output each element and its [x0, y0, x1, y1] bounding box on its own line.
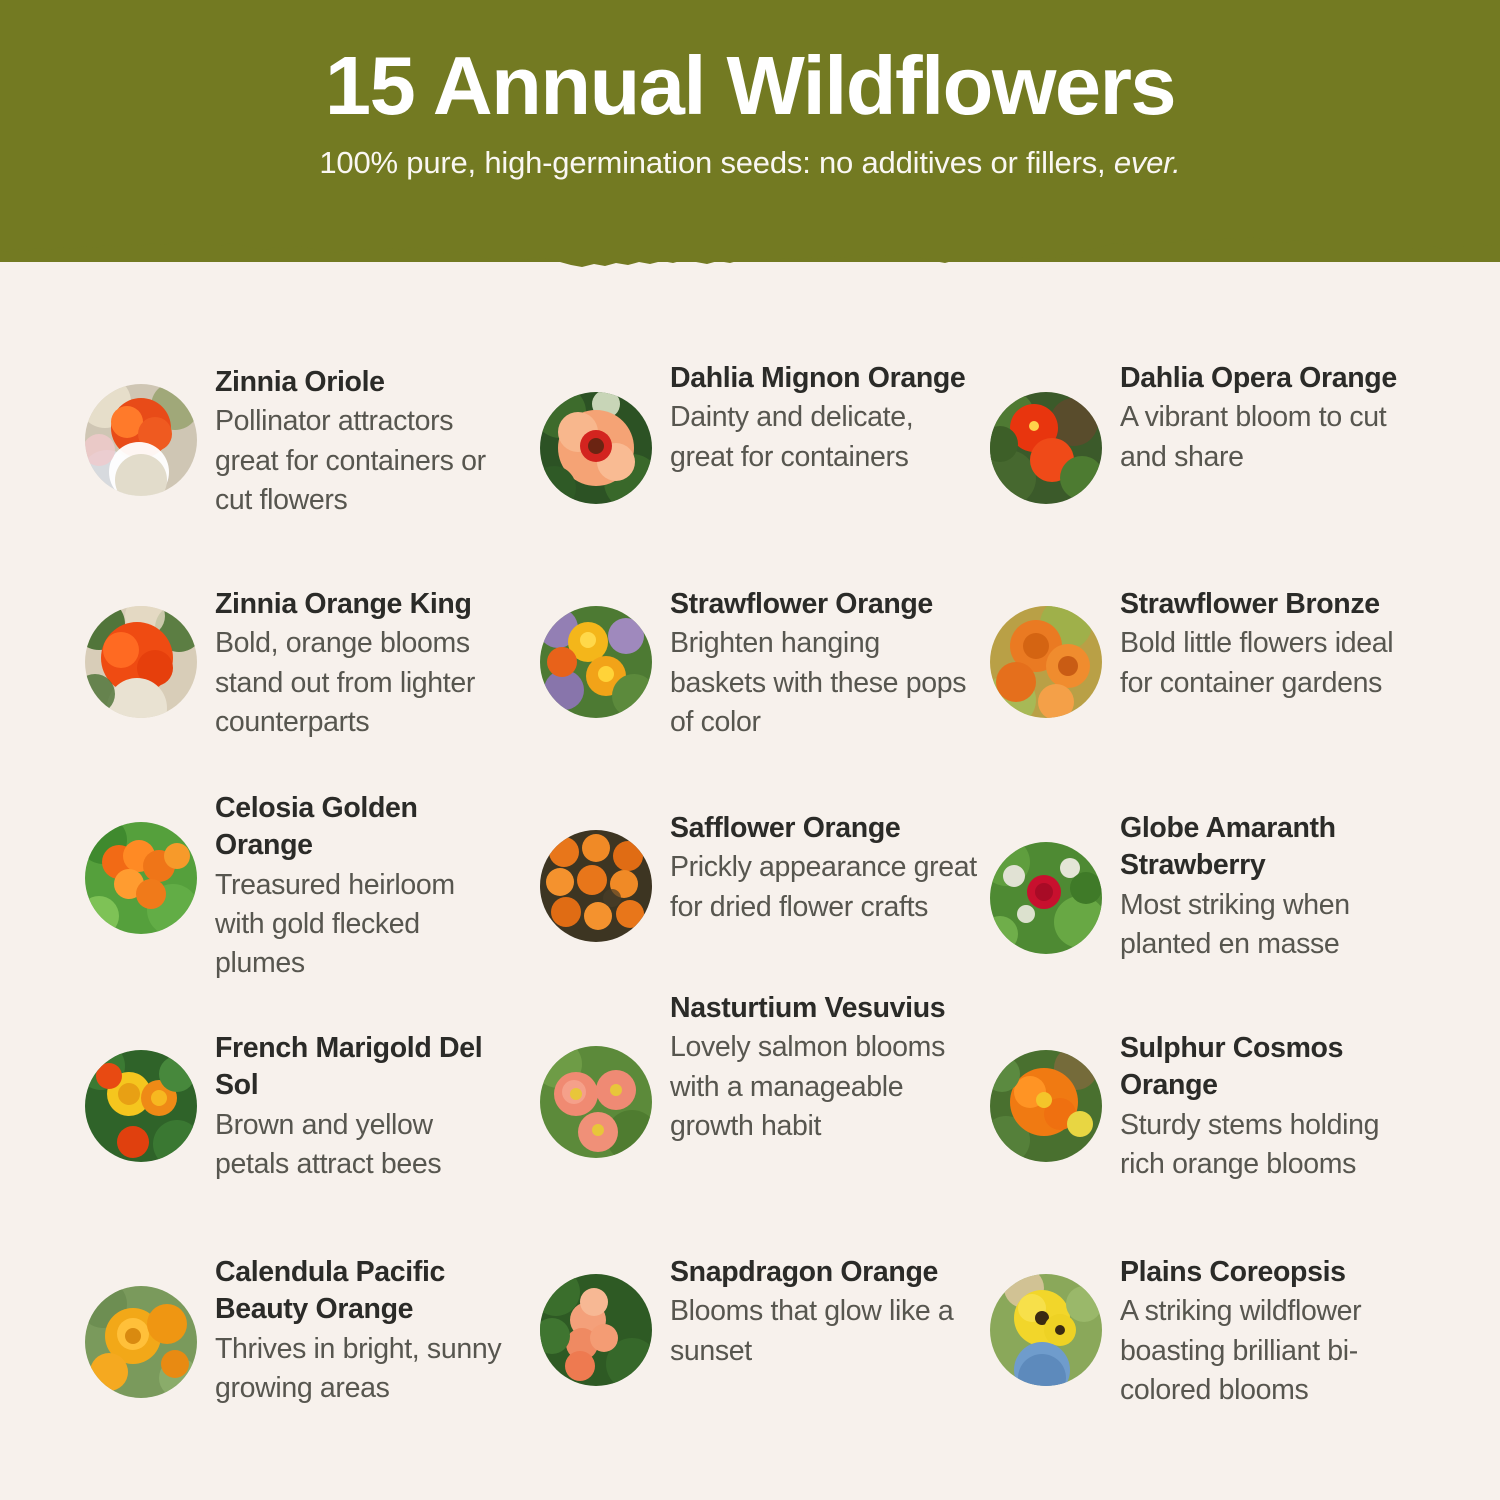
variety-name: Nasturtium Vesuvius: [670, 990, 980, 1027]
snapdragon-orange-photo: [540, 1274, 652, 1386]
torn-paper-edge-divider: [0, 232, 1500, 282]
variety-name: Zinnia Orange King: [215, 586, 505, 623]
safflower-orange-photo: [540, 830, 652, 942]
variety-description: A striking wildflower boasting brilliant…: [1120, 1292, 1430, 1410]
variety-description: Bold little flowers ideal for container …: [1120, 624, 1430, 703]
variety-name: Celosia Golden Orange: [215, 790, 505, 865]
variety-description: Prickly appearance great for dried flowe…: [670, 848, 980, 927]
variety-card[interactable]: Zinnia Orange KingBold, orange blooms st…: [85, 584, 505, 742]
variety-description: Treasured heirloom with gold flecked plu…: [215, 866, 505, 984]
variety-card[interactable]: Globe Amaranth StrawberryMost striking w…: [990, 808, 1430, 964]
variety-name: Dahlia Mignon Orange: [670, 360, 980, 397]
variety-card-text: Sulphur Cosmos OrangeSturdy stems holdin…: [1120, 1028, 1430, 1184]
celosia-golden-orange-photo: [85, 822, 197, 934]
zinnia-orange-king-photo: [85, 606, 197, 718]
page-header: 15 Annual Wildflowers 100% pure, high-ge…: [0, 0, 1500, 262]
french-marigold-del-sol-photo: [85, 1050, 197, 1162]
variety-description: A vibrant bloom to cut and share: [1120, 398, 1430, 477]
variety-name: Zinnia Oriole: [215, 364, 505, 401]
plains-coreopsis-photo: [990, 1274, 1102, 1386]
variety-description: Most striking when planted en masse: [1120, 886, 1430, 965]
variety-card[interactable]: Zinnia OriolePollinator attractors great…: [85, 362, 505, 520]
wildflower-variety-grid: Zinnia OriolePollinator attractors great…: [0, 300, 1500, 1500]
variety-card[interactable]: Celosia Golden OrangeTreasured heirloom …: [85, 788, 505, 984]
variety-card[interactable]: Sulphur Cosmos OrangeSturdy stems holdin…: [990, 1028, 1430, 1184]
variety-card-text: French Marigold Del SolBrown and yellow …: [215, 1028, 505, 1184]
variety-card-text: Zinnia OriolePollinator attractors great…: [215, 362, 505, 520]
variety-name: Dahlia Opera Orange: [1120, 360, 1430, 397]
variety-card-text: Dahlia Mignon OrangeDainty and delicate,…: [670, 358, 980, 477]
zinnia-oriole-photo: [85, 384, 197, 496]
variety-description: Sturdy stems holding rich orange blooms: [1120, 1106, 1430, 1185]
variety-name: Strawflower Orange: [670, 586, 980, 623]
page-subtitle: 100% pure, high-germination seeds: no ad…: [0, 145, 1500, 181]
variety-card[interactable]: Plains CoreopsisA striking wildflower bo…: [990, 1252, 1430, 1410]
dahlia-opera-orange-photo: [990, 392, 1102, 504]
variety-card[interactable]: Strawflower BronzeBold little flowers id…: [990, 584, 1430, 718]
variety-card-text: Plains CoreopsisA striking wildflower bo…: [1120, 1252, 1430, 1410]
variety-description: Brown and yellow petals attract bees: [215, 1106, 505, 1185]
subtitle-main-text: 100% pure, high-germination seeds: no ad…: [319, 145, 1113, 180]
variety-card-text: Calendula Pacific Beauty OrangeThrives i…: [215, 1252, 505, 1408]
variety-description: Lovely salmon blooms with a manageable g…: [670, 1028, 980, 1146]
dahlia-mignon-orange-photo: [540, 392, 652, 504]
variety-card[interactable]: Dahlia Opera OrangeA vibrant bloom to cu…: [990, 358, 1430, 504]
page-title: 15 Annual Wildflowers: [0, 42, 1500, 129]
sulphur-cosmos-orange-photo: [990, 1050, 1102, 1162]
variety-card-text: Snapdragon OrangeBlooms that glow like a…: [670, 1252, 980, 1371]
variety-card[interactable]: French Marigold Del SolBrown and yellow …: [85, 1028, 505, 1184]
variety-description: Thrives in bright, sunny growing areas: [215, 1330, 505, 1409]
variety-card[interactable]: Dahlia Mignon OrangeDainty and delicate,…: [540, 358, 980, 504]
variety-card[interactable]: Snapdragon OrangeBlooms that glow like a…: [540, 1252, 980, 1386]
variety-card-text: Strawflower OrangeBrighten hanging baske…: [670, 584, 980, 742]
variety-card-text: Strawflower BronzeBold little flowers id…: [1120, 584, 1430, 703]
globe-amaranth-strawberry-photo: [990, 842, 1102, 954]
variety-card-text: Nasturtium VesuviusLovely salmon blooms …: [670, 988, 980, 1146]
variety-card[interactable]: Nasturtium VesuviusLovely salmon blooms …: [540, 988, 980, 1158]
strawflower-bronze-photo: [990, 606, 1102, 718]
variety-description: Brighten hanging baskets with these pops…: [670, 624, 980, 742]
variety-description: Bold, orange blooms stand out from light…: [215, 624, 505, 742]
nasturtium-vesuvius-photo: [540, 1046, 652, 1158]
variety-name: Globe Amaranth Strawberry: [1120, 810, 1430, 885]
variety-description: Pollinator attractors great for containe…: [215, 402, 505, 520]
variety-card[interactable]: Strawflower OrangeBrighten hanging baske…: [540, 584, 980, 742]
variety-name: French Marigold Del Sol: [215, 1030, 505, 1105]
variety-card-text: Globe Amaranth StrawberryMost striking w…: [1120, 808, 1430, 964]
strawflower-orange-photo: [540, 606, 652, 718]
variety-name: Strawflower Bronze: [1120, 586, 1430, 623]
variety-card[interactable]: Safflower OrangePrickly appearance great…: [540, 808, 980, 942]
variety-card-text: Dahlia Opera OrangeA vibrant bloom to cu…: [1120, 358, 1430, 477]
variety-name: Sulphur Cosmos Orange: [1120, 1030, 1430, 1105]
variety-card-text: Celosia Golden OrangeTreasured heirloom …: [215, 788, 505, 984]
variety-name: Calendula Pacific Beauty Orange: [215, 1254, 505, 1329]
variety-description: Blooms that glow like a sunset: [670, 1292, 980, 1371]
variety-card-text: Zinnia Orange KingBold, orange blooms st…: [215, 584, 505, 742]
variety-card-text: Safflower OrangePrickly appearance great…: [670, 808, 980, 927]
subtitle-emphasis-text: ever.: [1114, 145, 1181, 180]
calendula-pacific-beauty-orange-photo: [85, 1286, 197, 1398]
variety-card[interactable]: Calendula Pacific Beauty OrangeThrives i…: [85, 1252, 505, 1408]
variety-name: Plains Coreopsis: [1120, 1254, 1430, 1291]
variety-name: Safflower Orange: [670, 810, 980, 847]
variety-name: Snapdragon Orange: [670, 1254, 980, 1291]
variety-description: Dainty and delicate, great for container…: [670, 398, 980, 477]
